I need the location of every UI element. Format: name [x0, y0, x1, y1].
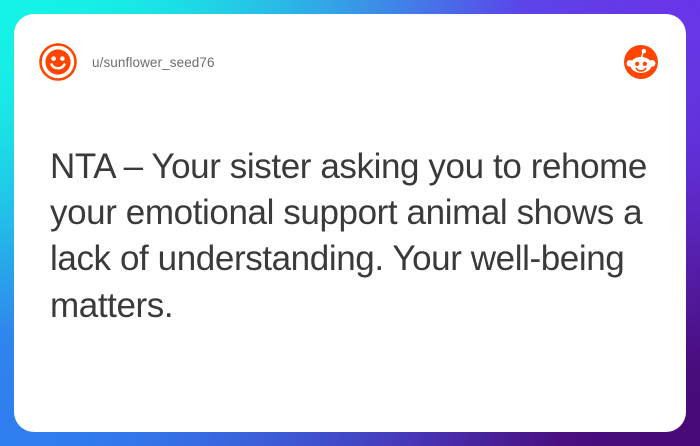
reddit-snoo-logo-icon	[624, 45, 658, 79]
post-text: NTA – Your sister asking you to rehome y…	[38, 144, 662, 329]
post-header: u/sunflower_seed76	[38, 40, 662, 84]
avatar[interactable]	[38, 42, 78, 82]
username-label[interactable]: u/sunflower_seed76	[92, 55, 215, 70]
screenshot-root: u/sunflower_seed76	[0, 0, 700, 446]
brand-logo[interactable]	[624, 45, 662, 79]
reddit-post-card: u/sunflower_seed76	[14, 14, 686, 432]
post-body: NTA – Your sister asking you to rehome y…	[38, 84, 662, 408]
smiley-face-avatar-icon	[38, 42, 78, 82]
